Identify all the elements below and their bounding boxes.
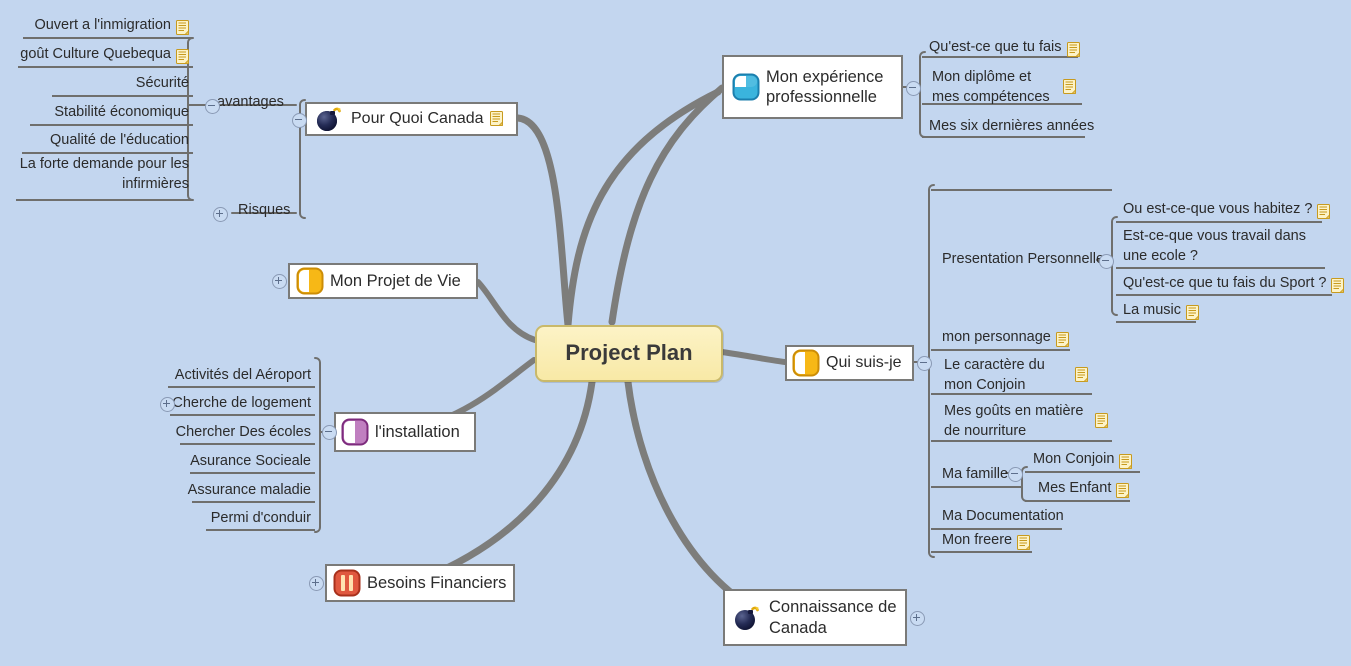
node-quest-ce-que-tu-fais[interactable]: Qu'est-ce que tu fais <box>925 38 1084 60</box>
node-ma-documentation[interactable]: Ma Documentation <box>938 507 1068 529</box>
node-label: Le caractère du mon Conjoin <box>944 356 1070 395</box>
node-presentation-personnelle[interactable]: Presentation Personnelle <box>938 250 1108 272</box>
node-label: Chercher Des écoles <box>176 423 311 443</box>
blue-square-icon <box>732 73 760 101</box>
node-quest-ce-que-tu-fais-du-sport[interactable]: Qu'est-ce que tu fais du Sport ? <box>1119 274 1348 296</box>
node-le-caractere-du-mon-conjoin[interactable]: Le caractère du mon Conjoin <box>940 356 1092 397</box>
node-mon-freere[interactable]: Mon freere <box>938 531 1034 553</box>
node-label: Pour Quoi Canada <box>351 109 484 129</box>
purple-square-icon <box>341 418 369 446</box>
mindmap-canvas: Ouvert a l'inmigration goût Culture Queb… <box>0 0 1351 666</box>
node-label: Mon expérience professionnelle <box>766 67 893 107</box>
node-label: mon personnage <box>942 328 1051 348</box>
toggle-ma-famille[interactable] <box>1008 467 1023 482</box>
central-node-project-plan[interactable]: Project Plan <box>535 325 723 382</box>
bomb-icon <box>733 605 763 631</box>
node-risques[interactable]: Risques <box>234 201 294 223</box>
node-label: Mon freere <box>942 531 1012 551</box>
node-label: Connaissance de Canada <box>769 597 897 637</box>
node-connaissance-de-canada[interactable]: Connaissance de Canada <box>723 589 907 646</box>
node-mon-conjoin[interactable]: Mon Conjoin <box>1029 450 1136 472</box>
note-icon <box>1331 278 1344 293</box>
note-icon <box>1067 42 1080 57</box>
note-icon <box>1186 305 1199 320</box>
node-label: Ou est-ce-que vous habitez ? <box>1123 200 1312 220</box>
toggle-avantages[interactable] <box>205 99 220 114</box>
node-label: Mon diplôme et mes compétences <box>932 68 1058 107</box>
node-mon-projet-de-vie[interactable]: Mon Projet de Vie <box>288 263 478 299</box>
node-label: Risques <box>238 201 290 221</box>
node-label: Permi d'conduir <box>211 509 311 529</box>
node-label: Asurance Socieale <box>190 452 311 472</box>
node-mon-experience-professionnelle[interactable]: Mon expérience professionnelle <box>722 55 903 119</box>
node-la-forte-demande[interactable]: La forte demande pour les infirmières <box>14 155 193 196</box>
node-gout-culture-quebequa[interactable]: goût Culture Quebequa <box>14 45 193 67</box>
node-besoins-financiers[interactable]: Besoins Financiers <box>325 564 515 602</box>
toggle-linstallation[interactable] <box>322 425 337 440</box>
note-icon <box>1317 204 1330 219</box>
note-icon <box>1095 413 1108 428</box>
node-label: Qualité de l'éducation <box>50 131 189 151</box>
toggle-cherche-de-logement[interactable] <box>160 397 175 412</box>
node-avantages[interactable]: avantages <box>213 93 288 115</box>
node-assurance-maladie[interactable]: Assurance maladie <box>140 481 315 503</box>
node-label: Mes Enfant <box>1038 479 1111 499</box>
toggle-mon-projet-de-vie[interactable] <box>272 274 287 289</box>
node-label: Stabilité économique <box>54 103 189 123</box>
yellow-square-icon <box>792 349 820 377</box>
toggle-connaissance-de-canada[interactable] <box>910 611 925 626</box>
note-icon <box>1056 332 1069 347</box>
node-label: Qu'est-ce que tu fais du Sport ? <box>1123 274 1326 294</box>
node-label: Cherche de logement <box>172 394 311 414</box>
red-pause-square-icon <box>333 569 361 597</box>
node-stabilite-economique[interactable]: Stabilité économique <box>14 103 193 125</box>
node-mon-personnage[interactable]: mon personnage <box>938 328 1073 350</box>
node-label: Presentation Personnelle <box>942 250 1104 270</box>
node-label: Activités del Aéroport <box>175 366 311 386</box>
central-node-label: Project Plan <box>565 340 692 367</box>
yellow-square-icon <box>296 267 324 295</box>
node-mes-enfant[interactable]: Mes Enfant <box>1034 479 1133 501</box>
node-mes-gouts-en-matiere-de-nourriture[interactable]: Mes goûts en matière de nourriture <box>940 402 1112 443</box>
node-ma-famille[interactable]: Ma famille <box>938 465 1012 487</box>
node-qui-suis-je[interactable]: Qui suis-je <box>785 345 914 381</box>
node-permi-dconduir[interactable]: Permi d'conduir <box>140 509 315 531</box>
node-label: Qui suis-je <box>826 353 902 373</box>
node-chercher-des-ecoles[interactable]: Chercher Des écoles <box>140 423 315 445</box>
node-label: Qu'est-ce que tu fais <box>929 38 1062 58</box>
node-est-ce-que-vous-travail-dans-une-ecole[interactable]: Est-ce-que vous travail dans une ecole ? <box>1119 227 1325 268</box>
note-icon <box>1119 454 1132 469</box>
node-label: La forte demande pour les infirmières <box>18 155 189 194</box>
node-label: Sécurité <box>136 74 189 94</box>
node-label: Assurance maladie <box>188 481 311 501</box>
node-label: Est-ce-que vous travail dans une ecole ? <box>1123 227 1321 266</box>
node-label: avantages <box>217 93 284 113</box>
toggle-qui-suis-je[interactable] <box>917 356 932 371</box>
node-label: Mes six dernières années <box>929 117 1094 137</box>
toggle-risques[interactable] <box>213 207 228 222</box>
node-label: l'installation <box>375 422 460 442</box>
node-ou-est-ce-que-vous-habitez[interactable]: Ou est-ce-que vous habitez ? <box>1119 200 1334 222</box>
node-label: Ouvert a l'inmigration <box>34 16 171 36</box>
node-qualite-de-leducation[interactable]: Qualité de l'éducation <box>14 131 193 153</box>
bomb-icon <box>315 106 345 132</box>
node-la-music[interactable]: La music <box>1119 301 1203 323</box>
node-label: Mon Projet de Vie <box>330 271 461 291</box>
node-label: Ma famille <box>942 465 1008 485</box>
node-mes-six-dernieres-annees[interactable]: Mes six dernières années <box>925 117 1098 139</box>
toggle-pour-quoi-canada[interactable] <box>292 113 307 128</box>
node-securite[interactable]: Sécurité <box>14 74 193 96</box>
node-label: goût Culture Quebequa <box>20 45 171 65</box>
node-label: La music <box>1123 301 1181 321</box>
toggle-besoins-financiers[interactable] <box>309 576 324 591</box>
note-icon <box>1017 535 1030 550</box>
node-asurance-socieale[interactable]: Asurance Socieale <box>140 452 315 474</box>
toggle-presentation-personnelle[interactable] <box>1099 254 1114 269</box>
node-mon-diplome-et-mes-competences[interactable]: Mon diplôme et mes compétences <box>928 68 1080 109</box>
note-icon <box>1116 483 1129 498</box>
note-icon <box>490 111 503 126</box>
note-icon <box>1075 367 1088 382</box>
toggle-mon-experience[interactable] <box>906 81 921 96</box>
node-ouvert-a-linmigration[interactable]: Ouvert a l'inmigration <box>16 16 193 38</box>
note-icon <box>1063 79 1076 94</box>
node-label: Ma Documentation <box>942 507 1064 527</box>
note-icon <box>176 49 189 64</box>
node-label: Mon Conjoin <box>1033 450 1114 470</box>
node-activites-del-aeroport[interactable]: Activités del Aéroport <box>140 366 315 388</box>
node-linstallation[interactable]: l'installation <box>334 412 476 452</box>
node-pour-quoi-canada[interactable]: Pour Quoi Canada <box>305 102 518 136</box>
node-label: Besoins Financiers <box>367 573 506 593</box>
note-icon <box>176 20 189 35</box>
node-label: Mes goûts en matière de nourriture <box>944 402 1090 441</box>
